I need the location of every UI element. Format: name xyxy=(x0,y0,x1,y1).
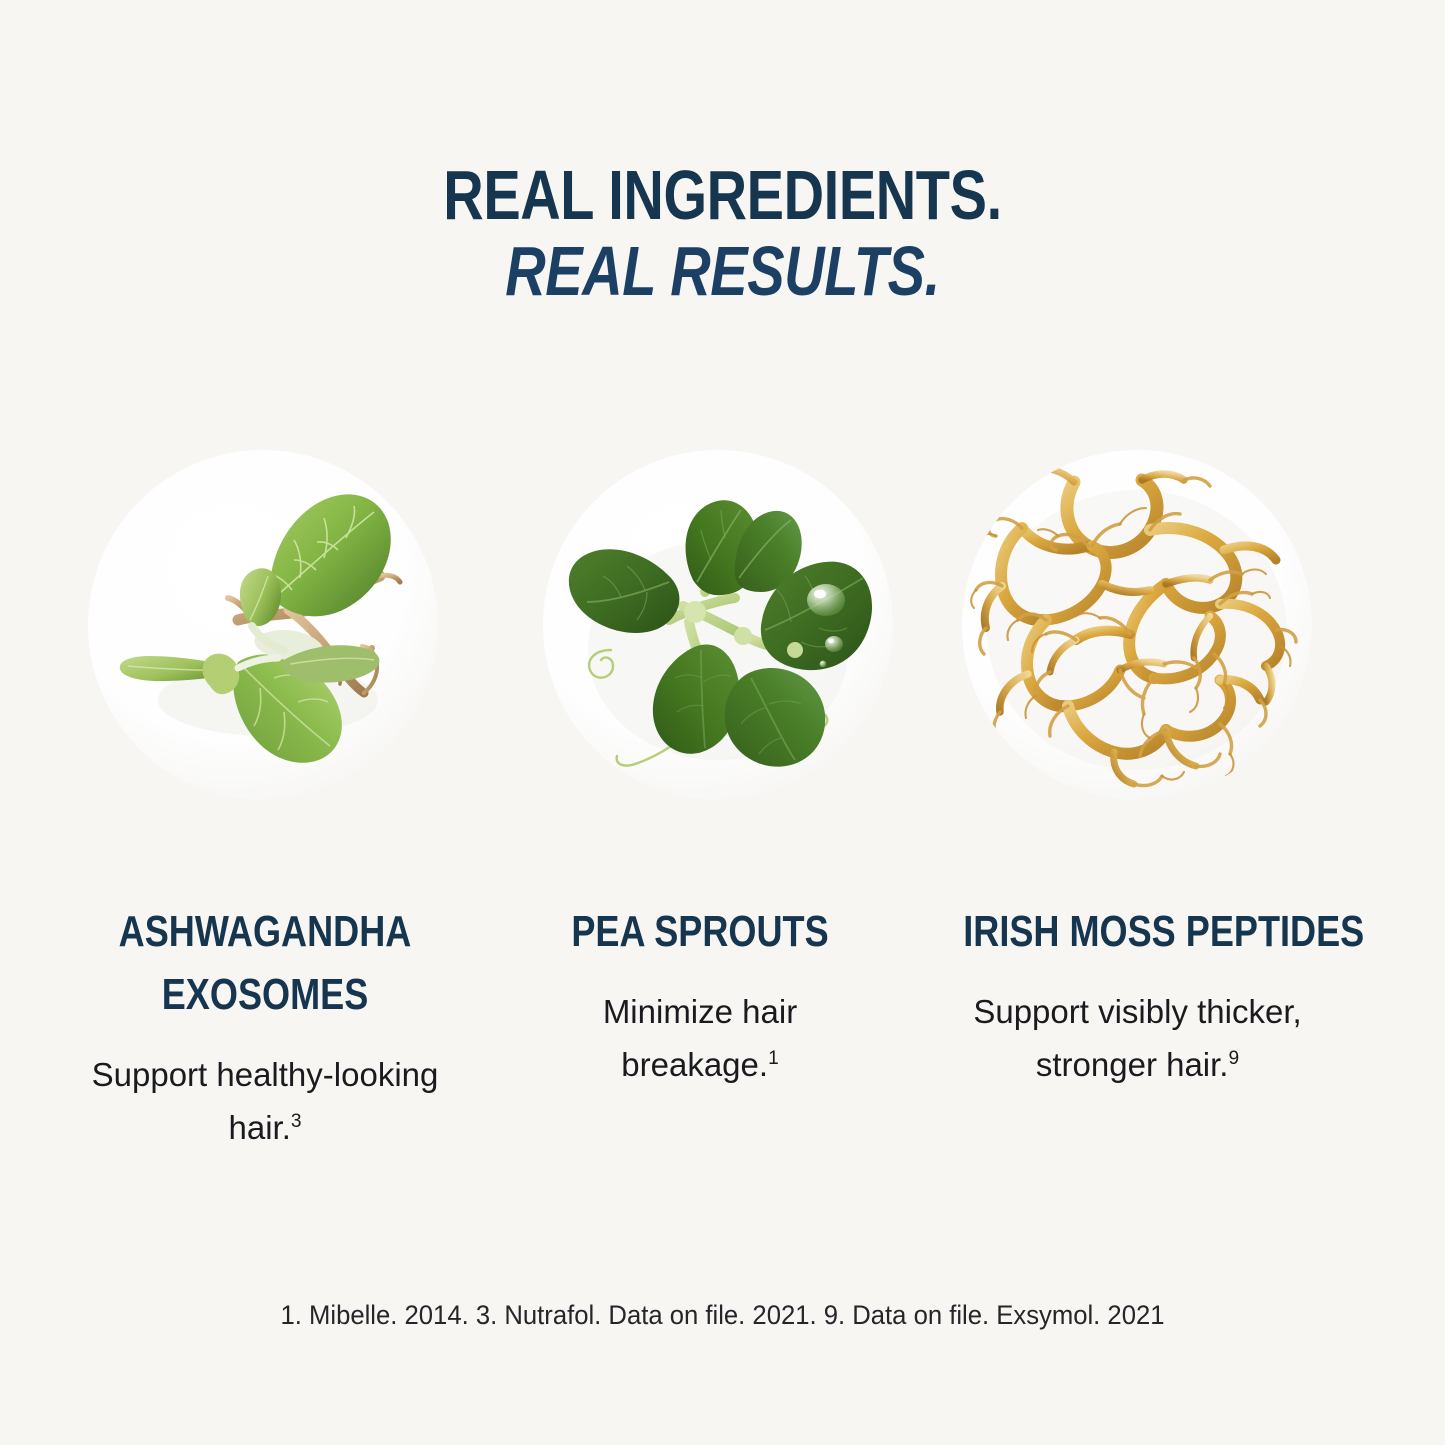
ingredient-description-text: Minimize hair breakage. xyxy=(603,993,797,1083)
ingredients-infographic: REAL INGREDIENTS. REAL RESULTS. xyxy=(0,0,1445,1445)
headline-line-1: REAL INGREDIENTS. xyxy=(145,160,1301,230)
ingredient-image-irish-moss-peptides xyxy=(962,450,1312,800)
ashwagandha-plant-photo xyxy=(88,450,438,800)
ingredient-description-text: Support visibly thicker, stronger hair. xyxy=(973,993,1301,1083)
ingredient-title-ashwagandha-exosomes: ASHWAGANDHA EXOSOMES xyxy=(97,900,433,1026)
ingredient-images-row xyxy=(0,450,1445,810)
ingredient-title-pea-sprouts: PEA SPROUTS xyxy=(536,900,864,963)
ingredient-description-text: Support healthy-looking hair. xyxy=(92,1056,439,1146)
ingredient-column-ashwagandha-exosomes: ASHWAGANDHA EXOSOMES Support healthy-loo… xyxy=(60,900,470,1154)
ingredient-image-pea-sprouts xyxy=(543,450,893,800)
footnote-ref: 9 xyxy=(1228,1048,1239,1069)
headline-line-2: REAL RESULTS. xyxy=(145,236,1301,306)
ingredient-column-pea-sprouts: PEA SPROUTS Minimize hair breakage.1 xyxy=(500,900,900,1091)
ingredient-description-irish-moss-peptides: Support visibly thicker, stronger hair.9 xyxy=(925,985,1350,1091)
ingredient-title-irish-moss-peptides: IRISH MOSS PEPTIDES xyxy=(963,900,1312,963)
footnote-ref: 1 xyxy=(768,1048,779,1069)
footnote-citations: 1. Mibelle. 2014. 3. Nutrafol. Data on f… xyxy=(36,1300,1409,1331)
ingredient-description-ashwagandha-exosomes: Support healthy-looking hair.3 xyxy=(60,1048,470,1154)
pea-sprouts-photo xyxy=(543,450,893,800)
irish-moss-photo xyxy=(962,450,1312,800)
footnote-ref: 3 xyxy=(291,1111,302,1132)
ingredient-description-pea-sprouts: Minimize hair breakage.1 xyxy=(500,985,900,1091)
ingredient-column-irish-moss-peptides: IRISH MOSS PEPTIDES Support visibly thic… xyxy=(925,900,1350,1091)
ingredient-image-ashwagandha-exosomes xyxy=(88,450,438,800)
headline-block: REAL INGREDIENTS. REAL RESULTS. xyxy=(0,160,1445,306)
